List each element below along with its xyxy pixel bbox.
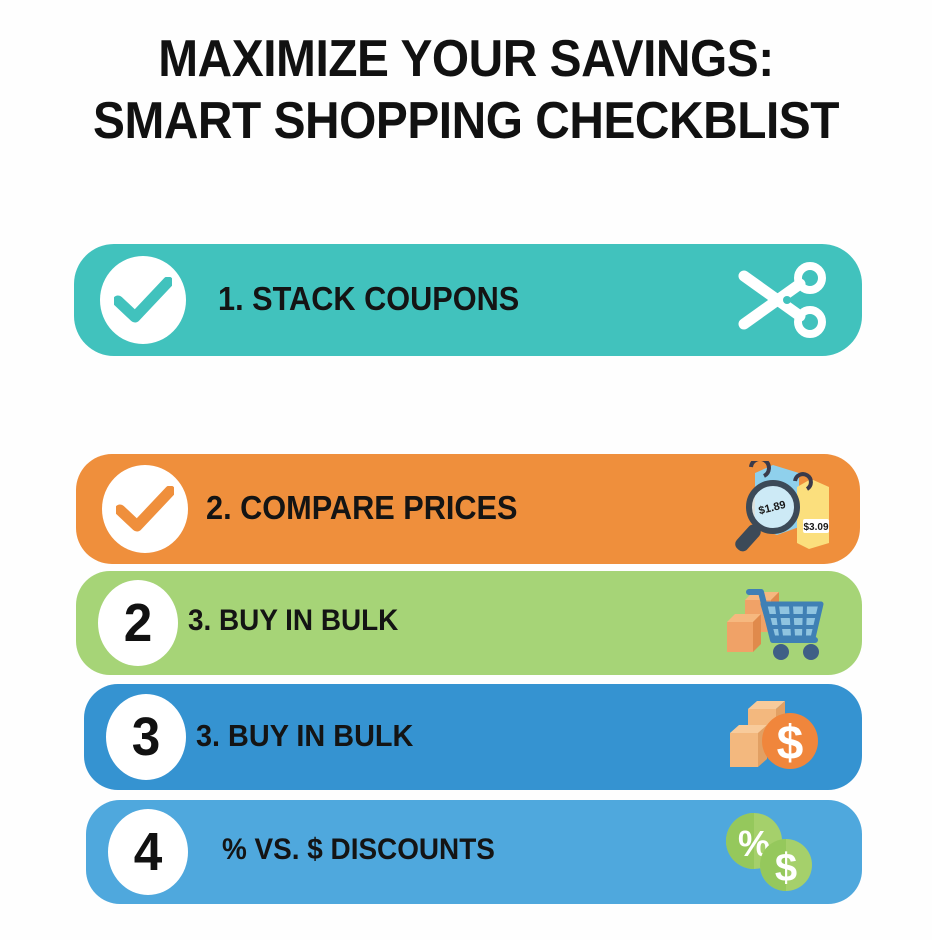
number-badge-3-value: 2 (124, 596, 153, 650)
checklist-item-1-label: 1. STACK COUPONS (218, 280, 519, 318)
dollar-glyph: $ (775, 846, 797, 890)
check-badge-2 (102, 465, 188, 553)
checklist-item-5[interactable]: 4 % VS. $ DISCOUNTS % $ (86, 800, 862, 904)
checklist-item-4-label: 3. BUY IN BULK (196, 718, 413, 754)
check-icon (116, 486, 174, 532)
number-badge-5: 4 (108, 809, 188, 895)
infographic-canvas: MAXIMIZE YOUR SAVINGS: SMART SHOPPING CH… (0, 0, 932, 940)
percent-dollar-circles-icon: % $ (716, 809, 820, 895)
boxes-dollar-coin-icon: $ (720, 694, 824, 780)
price-tags-magnifier-icon: $3.09 $1.89 (722, 459, 838, 559)
tag-price-label: $3.09 (803, 522, 828, 533)
number-badge-5-value: 4 (134, 825, 163, 879)
scissors-icon (730, 256, 834, 344)
checklist-item-3-label: 3. BUY IN BULK (188, 604, 398, 638)
checklist-item-3[interactable]: 2 3. BUY IN BULK (76, 571, 862, 675)
checklist-item-2-label: 2. COMPARE PRICES (206, 489, 518, 527)
checklist-item-4[interactable]: 3 3. BUY IN BULK $ (84, 684, 862, 790)
number-badge-3: 2 (98, 580, 178, 666)
shopping-cart-boxes-icon (722, 581, 832, 665)
checklist-item-2[interactable]: 2. COMPARE PRICES $3.09 $1.89 (76, 454, 860, 564)
number-badge-4-value: 3 (132, 710, 161, 764)
title-line-1: MAXIMIZE YOUR SAVINGS: (37, 28, 894, 90)
check-badge-1 (100, 256, 186, 344)
title-line-2: SMART SHOPPING CHECKBLIST (37, 90, 894, 152)
dollar-glyph: $ (777, 717, 804, 770)
checklist-item-1[interactable]: 1. STACK COUPONS (74, 244, 862, 356)
number-badge-4: 3 (106, 694, 186, 780)
checklist-item-5-label: % VS. $ DISCOUNTS (222, 833, 495, 867)
check-icon (114, 277, 172, 323)
page-title: MAXIMIZE YOUR SAVINGS: SMART SHOPPING CH… (0, 28, 932, 152)
